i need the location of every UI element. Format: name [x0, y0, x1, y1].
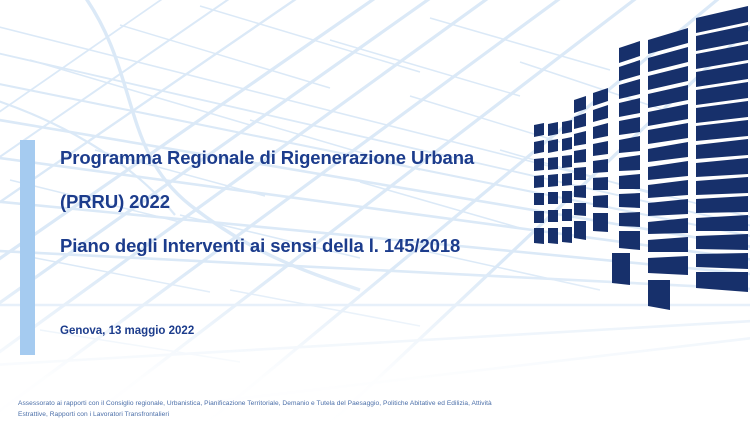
title-line-1: Programma Regionale di Rigenerazione Urb… [60, 136, 560, 180]
footer-department-text: Assessorato ai rapporti con il Consiglio… [18, 398, 618, 420]
left-accent-bar [20, 140, 35, 355]
presentation-slide: Programma Regionale di Rigenerazione Urb… [0, 0, 750, 430]
footer-line-2: Estrattive, Rapporti con i Lavoratori Tr… [18, 409, 618, 420]
place-date-label: Genova, 13 maggio 2022 [60, 325, 194, 337]
title-line-2: (PRRU) 2022 [60, 180, 560, 224]
title-line-3: Piano degli Interventi ai sensi della l.… [60, 224, 560, 268]
page-title: Programma Regionale di Rigenerazione Urb… [60, 136, 560, 268]
footer-line-1: Assessorato ai rapporti con il Consiglio… [18, 398, 618, 409]
slide-footer: Assessorato ai rapporti con il Consiglio… [0, 372, 750, 430]
